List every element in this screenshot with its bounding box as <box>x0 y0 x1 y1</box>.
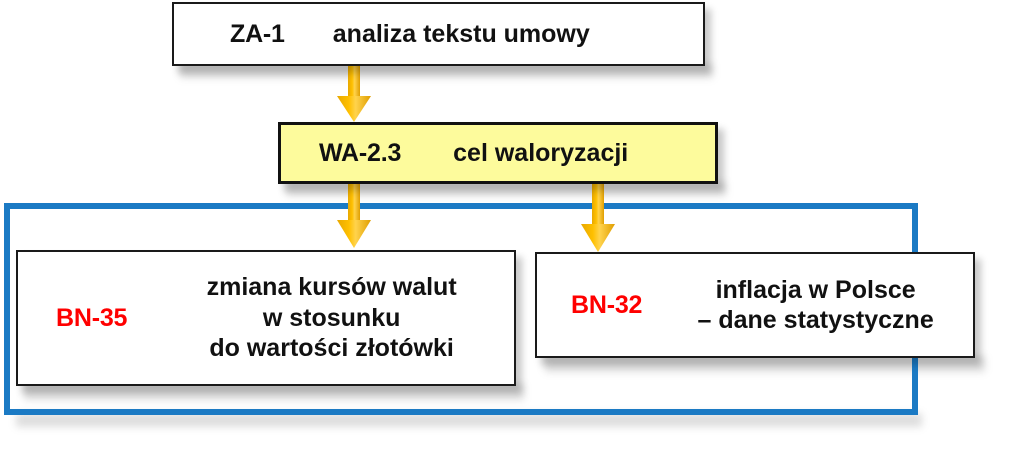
decorative-shadow-za1 <box>180 64 713 78</box>
node-za1-label: analiza tekstu umowy <box>333 19 590 50</box>
node-bn32[interactable]: BN-32 inflacja w Polsce – dane statystyc… <box>535 252 975 358</box>
node-za1-content: ZA-1 analiza tekstu umowy <box>174 19 703 50</box>
decorative-shadow-group <box>16 413 922 427</box>
node-wa23-content: WA-2.3 cel waloryzacji <box>281 138 715 169</box>
arrow-wa23-to-bn35 <box>334 184 374 250</box>
arrow-za1-to-wa23 <box>334 66 374 124</box>
node-za1-code: ZA-1 <box>230 20 285 49</box>
arrow-down-icon <box>578 184 618 254</box>
node-wa23-label: cel waloryzacji <box>453 138 628 169</box>
node-wa23[interactable]: WA-2.3 cel waloryzacji <box>278 122 718 184</box>
node-za1[interactable]: ZA-1 analiza tekstu umowy <box>172 2 705 66</box>
node-bn35-content: BN-35 zmiana kursów walut w stosunku do … <box>18 272 514 364</box>
node-wa23-code: WA-2.3 <box>319 139 401 168</box>
node-bn35-code: BN-35 <box>56 304 127 333</box>
arrow-down-icon <box>334 66 374 124</box>
arrow-down-icon <box>334 184 374 250</box>
node-bn32-label: inflacja w Polsce – dane statystyczne <box>672 275 959 336</box>
node-bn32-content: BN-32 inflacja w Polsce – dane statystyc… <box>537 275 973 336</box>
node-bn35-label: zmiana kursów walut w stosunku do wartoś… <box>163 272 500 364</box>
diagram-canvas: ZA-1 analiza tekstu umowy WA-2.3 cel wal… <box>0 0 1024 460</box>
node-bn35[interactable]: BN-35 zmiana kursów walut w stosunku do … <box>16 250 516 386</box>
node-bn32-code: BN-32 <box>571 291 642 320</box>
arrow-wa23-to-bn32 <box>578 184 618 254</box>
